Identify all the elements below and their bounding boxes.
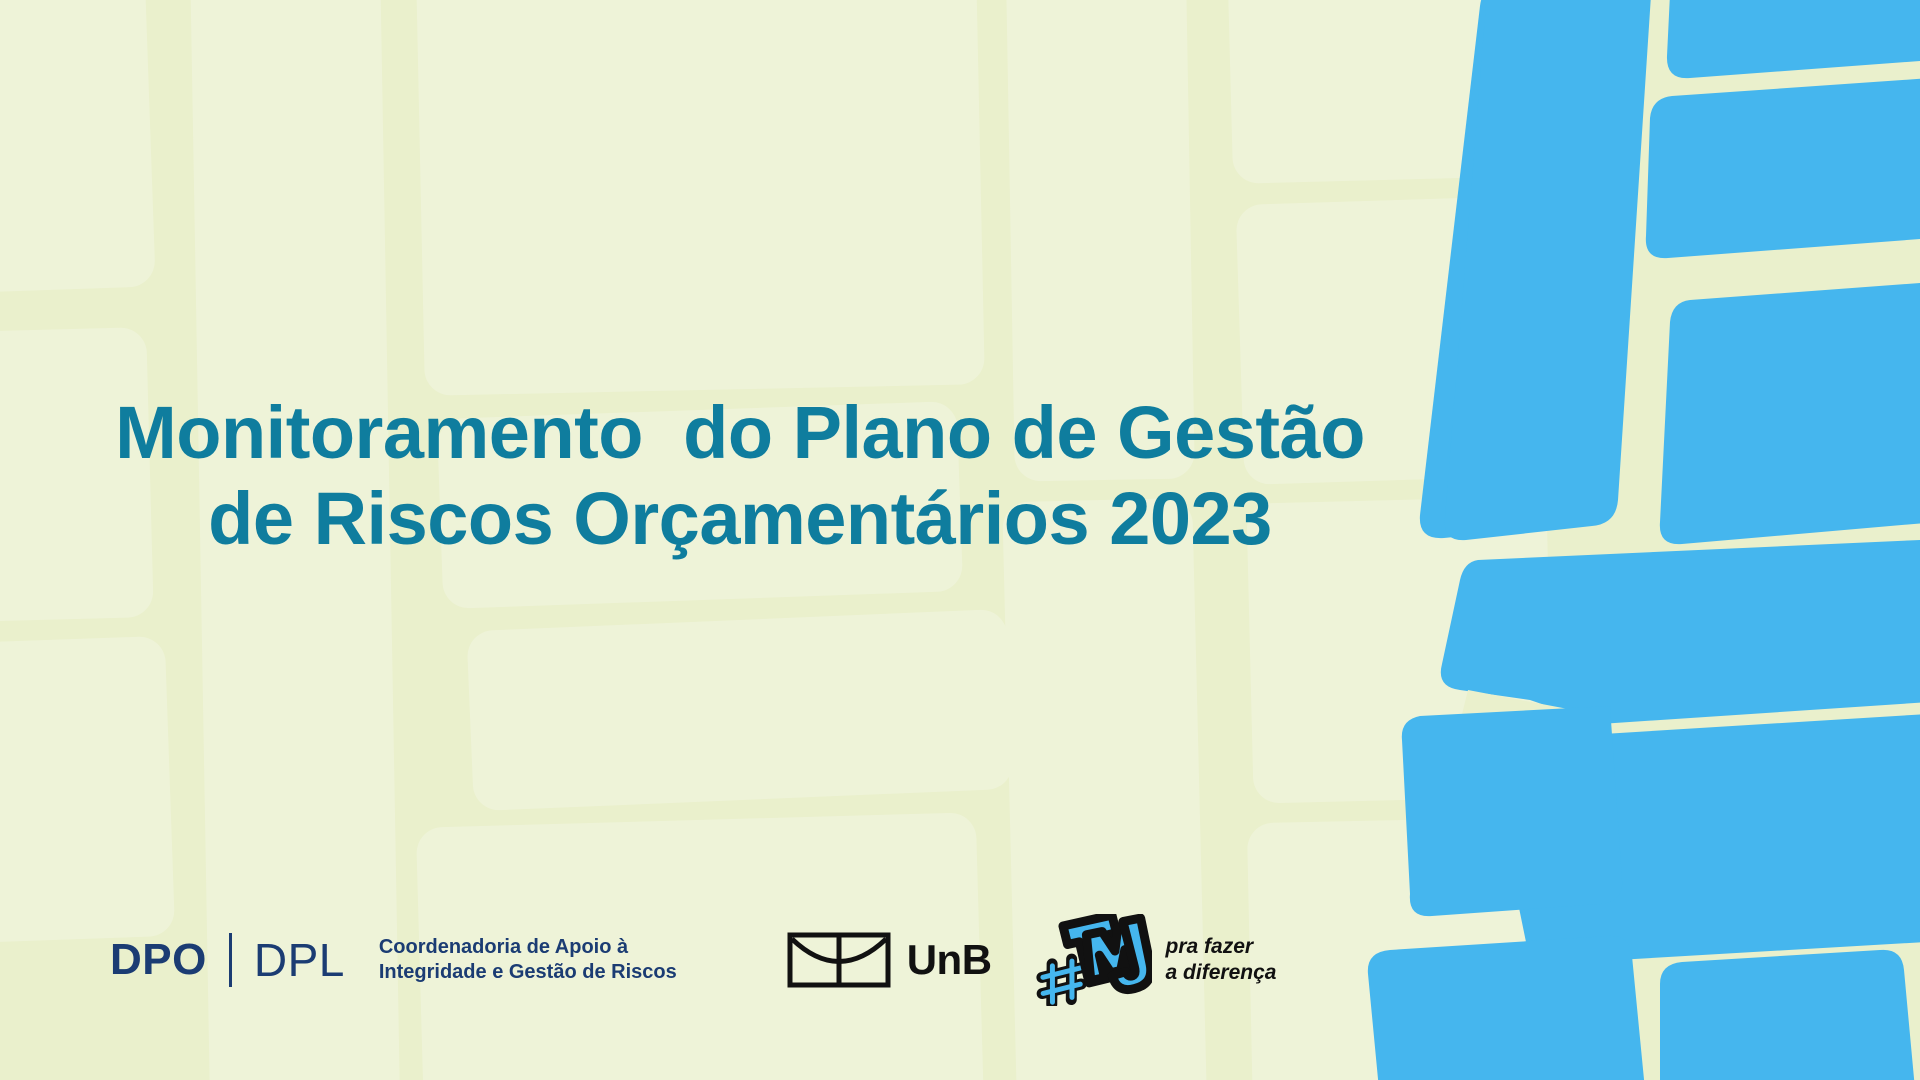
title-line-2: de Riscos Orçamentários 2023 — [0, 476, 1480, 562]
logo-bar: DPO DPL Coordenadoria de Apoio à Integri… — [110, 920, 1276, 1000]
unb-emblem-icon — [787, 932, 891, 988]
coordenadoria-description: Coordenadoria de Apoio à Integridade e G… — [379, 935, 677, 985]
page-title: Monitoramento do Plano de Gestão de Risc… — [0, 390, 1480, 562]
tmj-logo: pra fazer a diferença — [1036, 914, 1277, 1006]
dpl-label: DPL — [254, 937, 345, 983]
tmj-hashtag-icon — [1036, 914, 1152, 1006]
tmj-slogan: pra fazer a diferença — [1166, 934, 1277, 987]
unb-logo: UnB — [787, 932, 992, 988]
dpo-label: DPO — [110, 938, 207, 982]
dpo-dpl-logo: DPO DPL Coordenadoria de Apoio à Integri… — [110, 933, 677, 987]
slide-root: Monitoramento do Plano de Gestão de Risc… — [0, 0, 1920, 1080]
unb-label: UnB — [907, 939, 992, 981]
title-line-1: Monitoramento do Plano de Gestão — [0, 390, 1480, 476]
logo-divider — [229, 933, 232, 987]
